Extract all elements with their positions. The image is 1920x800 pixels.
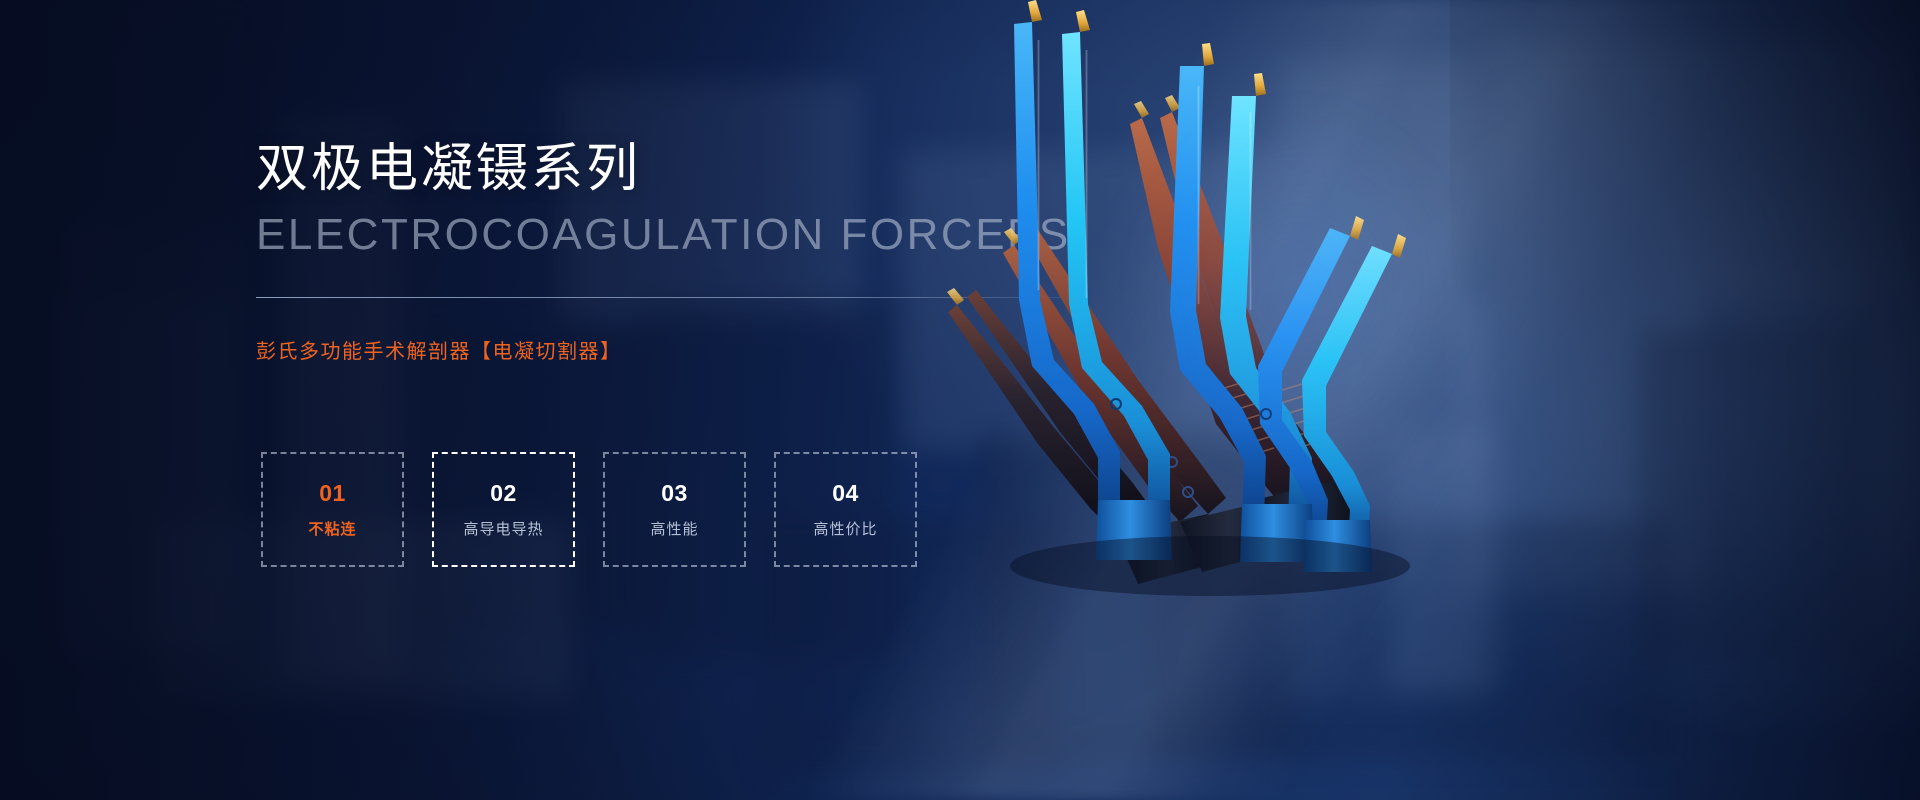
feature-number: 01	[319, 482, 346, 505]
feature-list: 01 不粘连 02 高导电导热 03 高性能 04 高性价比	[261, 452, 917, 567]
feature-item-01[interactable]: 01 不粘连	[261, 452, 404, 567]
product-tagline: 彭氏多功能手术解剖器【电凝切割器】	[256, 342, 622, 362]
feature-number: 04	[832, 482, 859, 505]
page-title: 双极电凝镊系列	[256, 143, 641, 195]
feature-item-03[interactable]: 03 高性能	[603, 452, 746, 567]
feature-number: 03	[661, 482, 688, 505]
feature-caption: 不粘连	[308, 522, 356, 537]
feature-item-02[interactable]: 02 高导电导热	[432, 452, 575, 567]
banner-content: 双极电凝镊系列 ELECTROCOAGULATION FORCEPS 彭氏多功能…	[0, 0, 1000, 800]
product-image-forceps	[1020, 0, 1580, 800]
feature-caption: 高性价比	[813, 522, 877, 537]
feature-caption: 高性能	[650, 522, 698, 537]
feature-number: 02	[490, 482, 517, 505]
feature-item-04[interactable]: 04 高性价比	[774, 452, 917, 567]
page-subtitle-english: ELECTROCOAGULATION FORCEPS	[256, 213, 1071, 257]
feature-caption: 高导电导热	[463, 522, 543, 537]
product-banner: 双极电凝镊系列 ELECTROCOAGULATION FORCEPS 彭氏多功能…	[0, 0, 1920, 800]
